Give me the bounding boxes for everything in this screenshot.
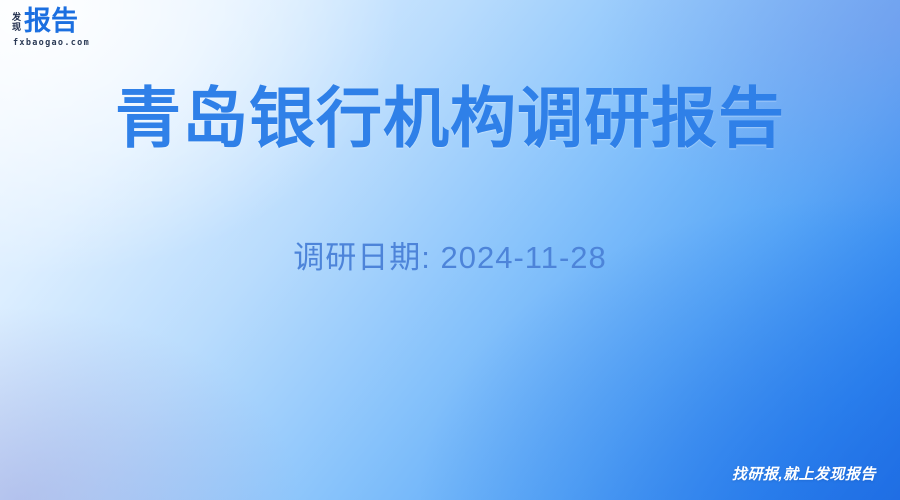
logo-mark-icon: 发 现 [12, 11, 21, 32]
site-logo[interactable]: 发 现 报告 fxbaogao.com [12, 8, 90, 48]
logo-wordmark-row: 发 现 报告 [12, 8, 78, 35]
report-cover-slide: 发 现 报告 fxbaogao.com 青岛银行机构调研报告 调研日期: 202… [0, 0, 900, 500]
logo-wordmark: 报告 [24, 8, 78, 35]
logo-mark-char-top: 发 [12, 12, 21, 22]
logo-url: fxbaogao.com [13, 39, 90, 48]
title-block: 青岛银行机构调研报告 [0, 84, 900, 153]
survey-date-subtitle: 调研日期: 2024-11-28 [0, 232, 900, 277]
logo-mark-char-bottom: 现 [12, 22, 21, 32]
brand-tagline: 找研报,就上发现报告 [732, 463, 876, 484]
page-title: 青岛银行机构调研报告 [0, 84, 900, 153]
